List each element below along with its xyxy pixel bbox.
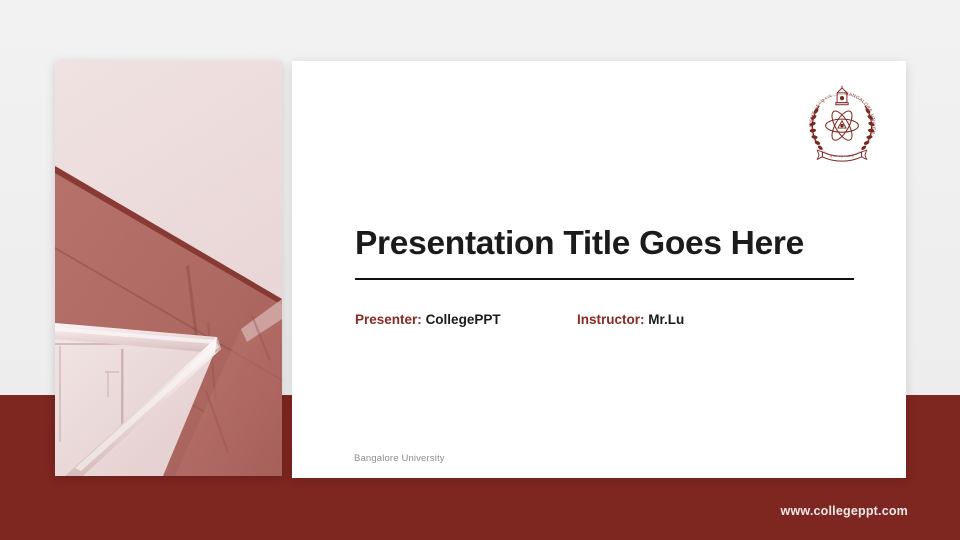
- meta-row: Presenter: CollegePPT Instructor: Mr.Lu: [355, 312, 684, 327]
- cover-photo: [55, 61, 282, 476]
- title-block: Presentation Title Goes Here: [355, 225, 855, 280]
- page-title: Presentation Title Goes Here: [355, 225, 855, 264]
- university-crest-icon: BANGALORE UNIVERSITY ಬೆಂಗಳೂರು ವಿಶ್ವವಿದ್ಯ…: [801, 83, 883, 165]
- university-logo: BANGALORE UNIVERSITY ಬೆಂಗಳೂರು ವಿಶ್ವವಿದ್ಯ…: [801, 83, 883, 165]
- svg-text:ಜ್ಞಾನಮ್ ವಿಜ್ಞಾನ ಸಹಿತಮ್: ಜ್ಞಾನಮ್ ವಿಜ್ಞಾನ ಸಹಿತಮ್: [829, 154, 854, 158]
- instructor-label: Instructor:: [577, 312, 645, 327]
- watermark-url: www.collegeppt.com: [781, 504, 908, 518]
- cover-photo-artwork: [55, 61, 282, 476]
- instructor-field: Instructor: Mr.Lu: [577, 312, 684, 327]
- presenter-label: Presenter:: [355, 312, 422, 327]
- presenter-field: Presenter: CollegePPT: [355, 312, 577, 327]
- presenter-value: CollegePPT: [426, 312, 501, 327]
- instructor-value: Mr.Lu: [648, 312, 684, 327]
- slide-footer: Bangalore University: [354, 453, 445, 464]
- slide-card: BANGALORE UNIVERSITY ಬೆಂಗಳೂರು ವಿಶ್ವವಿದ್ಯ…: [292, 61, 906, 478]
- slide-canvas: www.collegeppt.com: [0, 0, 960, 540]
- title-divider: [355, 278, 854, 280]
